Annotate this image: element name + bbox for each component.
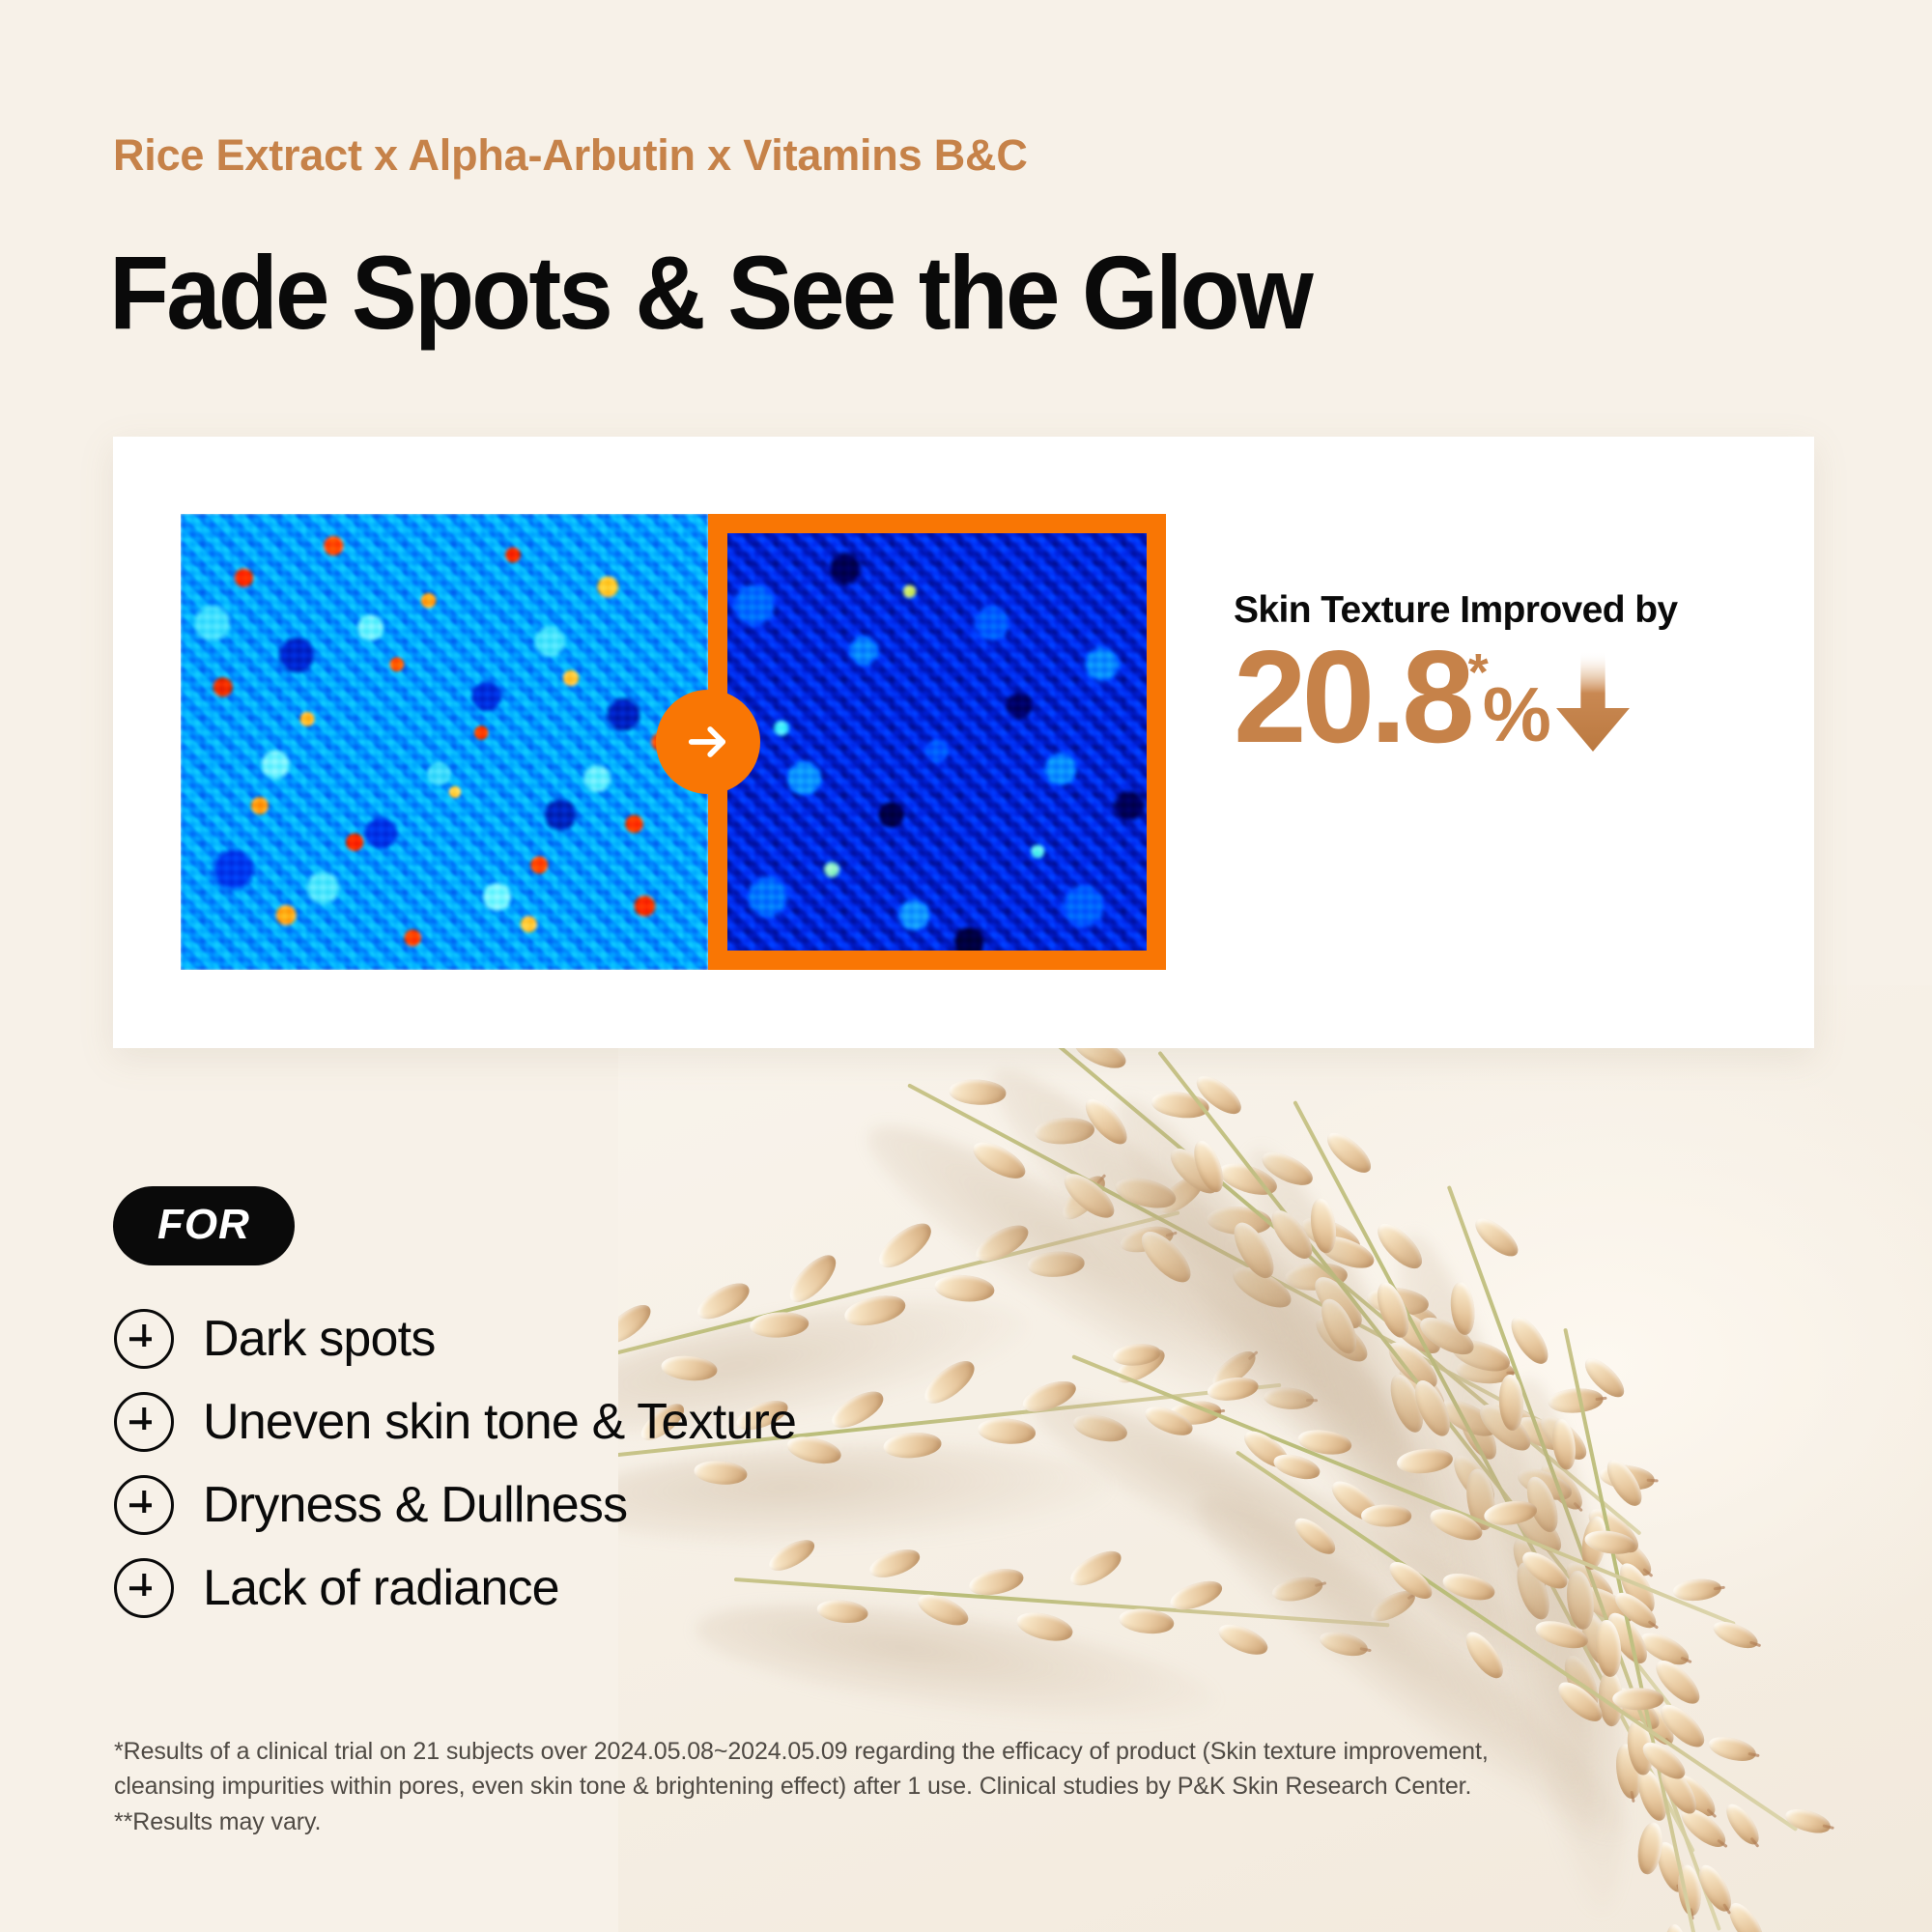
rice-grain bbox=[1534, 1458, 1589, 1516]
rice-grain bbox=[1227, 1259, 1296, 1315]
rice-grain bbox=[1578, 1352, 1629, 1403]
rice-grain bbox=[1561, 1555, 1619, 1608]
rice-grain bbox=[1653, 1838, 1691, 1895]
rice-grain bbox=[1035, 1117, 1095, 1146]
rice-grain bbox=[1532, 1616, 1591, 1654]
rice-stem bbox=[1157, 1051, 1672, 1708]
rice-grain bbox=[1483, 1498, 1539, 1528]
list-item-label: Dryness & Dullness bbox=[203, 1480, 627, 1530]
rice-grain bbox=[1453, 1403, 1504, 1465]
rice-stalk bbox=[730, 1526, 1393, 1679]
rice-grain bbox=[1258, 1146, 1319, 1192]
rice-grain bbox=[1511, 1558, 1555, 1623]
for-badge: FOR bbox=[113, 1186, 295, 1265]
rice-grain bbox=[1027, 1251, 1085, 1278]
rice-grain bbox=[1118, 1222, 1176, 1256]
rice-grain bbox=[1365, 1284, 1430, 1319]
stat-value: 20.8 bbox=[1234, 637, 1470, 757]
rice-grain bbox=[1663, 1924, 1689, 1932]
rice-grain bbox=[1308, 1270, 1370, 1336]
rice-grain bbox=[1582, 1501, 1644, 1559]
rice-grain bbox=[1396, 1447, 1454, 1476]
rice-grain bbox=[1168, 1400, 1222, 1426]
rice-grain bbox=[967, 1135, 1030, 1186]
rice-grain bbox=[882, 1431, 942, 1460]
rice-grain bbox=[1436, 1392, 1501, 1442]
rice-grain bbox=[1164, 1142, 1225, 1201]
rice-grain bbox=[1361, 1504, 1411, 1527]
rice-stalk bbox=[1053, 1308, 1755, 1672]
rice-stalk bbox=[879, 1031, 1584, 1483]
rice-shadow bbox=[958, 1035, 1488, 1551]
rice-grain bbox=[1371, 1278, 1414, 1341]
rice-grain bbox=[1296, 1426, 1353, 1458]
page-title: Fade Spots & See the Glow bbox=[109, 232, 1311, 353]
rice-grain bbox=[1594, 1619, 1623, 1678]
rice-grain bbox=[1290, 1512, 1341, 1560]
rice-grain bbox=[1675, 1863, 1703, 1918]
rice-grain bbox=[1371, 1216, 1428, 1274]
stat-block: Skin Texture Improved by 20.8 * % bbox=[1234, 591, 1775, 757]
rice-grain bbox=[1263, 1385, 1314, 1411]
rice-grain bbox=[1227, 1217, 1280, 1284]
rice-grain bbox=[1265, 1204, 1319, 1264]
for-badge-label: FOR bbox=[157, 1204, 250, 1246]
rice-grain bbox=[815, 1598, 868, 1626]
rice-stem bbox=[1563, 1328, 1707, 1932]
rice-grain bbox=[1383, 1555, 1437, 1605]
rice-grain bbox=[1583, 1527, 1637, 1557]
rice-grain bbox=[1548, 1387, 1604, 1414]
rice-grain bbox=[1112, 1342, 1162, 1367]
rice-grain bbox=[1722, 1897, 1769, 1932]
rice-grain bbox=[933, 1272, 995, 1304]
rice-grain bbox=[919, 1354, 981, 1410]
stat-value-row: 20.8 * % bbox=[1234, 637, 1775, 757]
rice-grain bbox=[1167, 1576, 1225, 1615]
rice-grain bbox=[1271, 1450, 1322, 1484]
rice-grain bbox=[1599, 1462, 1656, 1492]
rice-grain bbox=[1284, 1262, 1349, 1293]
rice-grain bbox=[1558, 1651, 1605, 1714]
rice-grain bbox=[827, 1384, 889, 1434]
rice-grain bbox=[1297, 1209, 1366, 1261]
list-item-label: Uneven skin tone & Texture bbox=[203, 1397, 796, 1447]
list-item: Uneven skin tone & Texture bbox=[114, 1392, 796, 1452]
rice-grain bbox=[1710, 1616, 1761, 1654]
rice-grain bbox=[971, 1218, 1035, 1268]
rice-grain bbox=[1142, 1401, 1196, 1440]
rice-grain bbox=[1650, 1654, 1707, 1711]
rice-grain bbox=[1447, 1449, 1502, 1511]
rice-grain bbox=[1552, 1675, 1607, 1727]
rice-grain bbox=[872, 1216, 937, 1275]
result-card: Skin Texture Improved by 20.8 * % bbox=[113, 437, 1814, 1048]
rice-stem bbox=[907, 1083, 1557, 1431]
rice-grain bbox=[1613, 1558, 1661, 1618]
rice-grain bbox=[1118, 1605, 1176, 1635]
list-item-label: Dark spots bbox=[203, 1314, 436, 1364]
rice-grain bbox=[1603, 1529, 1658, 1582]
plus-circle-icon bbox=[114, 1392, 174, 1452]
rice-grain bbox=[1215, 1618, 1272, 1661]
list-item: Dryness & Dullness bbox=[114, 1475, 796, 1535]
rice-grain bbox=[1692, 1861, 1736, 1916]
rice-grain bbox=[1316, 1294, 1364, 1359]
rice-grain bbox=[1058, 1167, 1122, 1227]
rice-grain bbox=[1191, 1069, 1247, 1121]
rice-grain bbox=[1207, 1205, 1273, 1237]
rice-grain bbox=[782, 1248, 843, 1309]
eyebrow-text: Rice Extract x Alpha-Arbutin x Vitamins … bbox=[113, 130, 1028, 181]
rice-grain bbox=[1065, 1544, 1127, 1592]
after-heatmap-image bbox=[708, 514, 1166, 970]
rice-grain bbox=[1463, 1466, 1498, 1531]
rice-stem bbox=[734, 1577, 1390, 1627]
rice-grain bbox=[1469, 1212, 1523, 1264]
list-item-label: Lack of radiance bbox=[203, 1563, 559, 1613]
rice-grain bbox=[967, 1565, 1026, 1599]
rice-grain bbox=[1270, 1574, 1324, 1605]
rice-grain bbox=[1393, 1358, 1452, 1419]
stat-unit: % bbox=[1483, 676, 1549, 753]
rice-grain bbox=[1216, 1157, 1282, 1202]
rice-grain bbox=[1577, 1515, 1609, 1572]
rice-grain bbox=[841, 1292, 907, 1330]
rice-grain bbox=[914, 1589, 973, 1633]
rice-grain bbox=[1601, 1607, 1654, 1669]
disclaimer: *Results of a clinical trial on 21 subje… bbox=[114, 1734, 1776, 1839]
rice-grain bbox=[1318, 1628, 1371, 1662]
rice-grain bbox=[1309, 1309, 1374, 1369]
rice-stalk bbox=[1115, 1017, 1716, 1742]
rice-grain bbox=[1613, 1688, 1665, 1711]
rice-grain bbox=[1507, 1497, 1568, 1559]
rice-grain bbox=[1575, 1579, 1638, 1631]
rice-grain bbox=[1381, 1334, 1444, 1395]
rice-grain bbox=[1672, 1577, 1722, 1603]
after-heatmap bbox=[708, 514, 1166, 970]
rice-grain bbox=[1383, 1303, 1447, 1361]
rice-grain bbox=[1448, 1281, 1476, 1336]
rice-stalk bbox=[996, 985, 1679, 1579]
rice-grain bbox=[1607, 1682, 1665, 1737]
rice-grain bbox=[1460, 1626, 1510, 1684]
rice-grain bbox=[1507, 1534, 1553, 1595]
poster-root: Rice Extract x Alpha-Arbutin x Vitamins … bbox=[0, 0, 1932, 1932]
rice-grain bbox=[1367, 1585, 1419, 1626]
rice-shadow bbox=[1078, 1071, 1534, 1680]
before-heatmap-image bbox=[181, 514, 708, 970]
rice-grain bbox=[1577, 1610, 1616, 1668]
rice-grain bbox=[1601, 1455, 1648, 1512]
rice-grain bbox=[948, 1078, 1006, 1106]
list-item: Lack of radiance bbox=[114, 1558, 796, 1618]
rice-grain bbox=[1188, 1137, 1229, 1196]
rice-grain bbox=[867, 1545, 923, 1583]
rice-grain bbox=[1326, 1474, 1384, 1527]
rice-grain bbox=[1019, 1375, 1081, 1417]
rice-shadow bbox=[840, 1087, 1397, 1491]
heatmap-comparison bbox=[181, 514, 1166, 970]
plus-circle-icon bbox=[114, 1475, 174, 1535]
rice-grain bbox=[1534, 1408, 1592, 1465]
rice-grain bbox=[1153, 1169, 1208, 1219]
rice-grain bbox=[1427, 1502, 1487, 1546]
rice-grain bbox=[1376, 1296, 1440, 1337]
plus-circle-icon bbox=[114, 1558, 174, 1618]
rice-shadow bbox=[1208, 1128, 1580, 1792]
arrow-down-icon bbox=[1551, 651, 1634, 752]
rice-grain bbox=[977, 1416, 1037, 1446]
rice-grain bbox=[1207, 1375, 1260, 1403]
rice-grain bbox=[1056, 1170, 1112, 1226]
plus-circle-icon bbox=[114, 1309, 174, 1369]
rice-grain bbox=[1112, 1343, 1170, 1389]
rice-grain bbox=[1486, 1395, 1547, 1444]
rice-grain bbox=[1636, 1627, 1693, 1671]
before-heatmap bbox=[181, 514, 708, 970]
rice-grain bbox=[1549, 1417, 1578, 1471]
rice-grain bbox=[1517, 1546, 1572, 1595]
rice-grain bbox=[1315, 1230, 1378, 1274]
rice-grain bbox=[1207, 1346, 1262, 1395]
rice-grain bbox=[1308, 1197, 1339, 1255]
feature-list: Dark spots Uneven skin tone & Texture Dr… bbox=[114, 1309, 796, 1641]
rice-grain bbox=[1070, 1410, 1129, 1447]
rice-grain bbox=[1150, 1089, 1210, 1122]
rice-grain bbox=[1014, 1607, 1075, 1645]
list-item: Dark spots bbox=[114, 1309, 796, 1369]
rice-grain bbox=[1408, 1376, 1457, 1441]
disclaimer-line-2: cleansing impurities within pores, even … bbox=[114, 1769, 1776, 1804]
rice-grain bbox=[1598, 1670, 1625, 1727]
rice-grain bbox=[1783, 1804, 1833, 1837]
rice-grain bbox=[1565, 1570, 1597, 1631]
rice-grain bbox=[1473, 1397, 1537, 1458]
rice-grain bbox=[1610, 1586, 1662, 1634]
arrow-right-icon bbox=[656, 690, 760, 794]
rice-stalk bbox=[1513, 1318, 1758, 1932]
rice-grain bbox=[1512, 1410, 1574, 1457]
disclaimer-line-3: **Results may vary. bbox=[114, 1804, 1776, 1839]
rice-grain bbox=[1514, 1463, 1577, 1507]
rice-stem bbox=[1033, 1024, 1642, 1536]
rice-grain bbox=[1238, 1425, 1294, 1475]
rice-grain bbox=[1505, 1311, 1554, 1370]
rice-grain bbox=[1135, 1224, 1199, 1290]
rice-grain bbox=[1321, 1126, 1377, 1180]
rice-shadow bbox=[1013, 1363, 1569, 1698]
rice-grain bbox=[1079, 1093, 1135, 1151]
rice-grain bbox=[1448, 1334, 1513, 1378]
rice-stem bbox=[1071, 1354, 1736, 1626]
rice-grain bbox=[1455, 1356, 1515, 1385]
rice-grain bbox=[1113, 1172, 1179, 1213]
disclaimer-line-1: *Results of a clinical trial on 21 subje… bbox=[114, 1734, 1776, 1769]
rice-grain bbox=[1384, 1370, 1430, 1435]
rice-grain bbox=[1498, 1374, 1524, 1431]
rice-grain bbox=[1415, 1310, 1479, 1361]
rice-grain bbox=[1439, 1569, 1496, 1605]
rice-grain bbox=[1521, 1472, 1564, 1535]
